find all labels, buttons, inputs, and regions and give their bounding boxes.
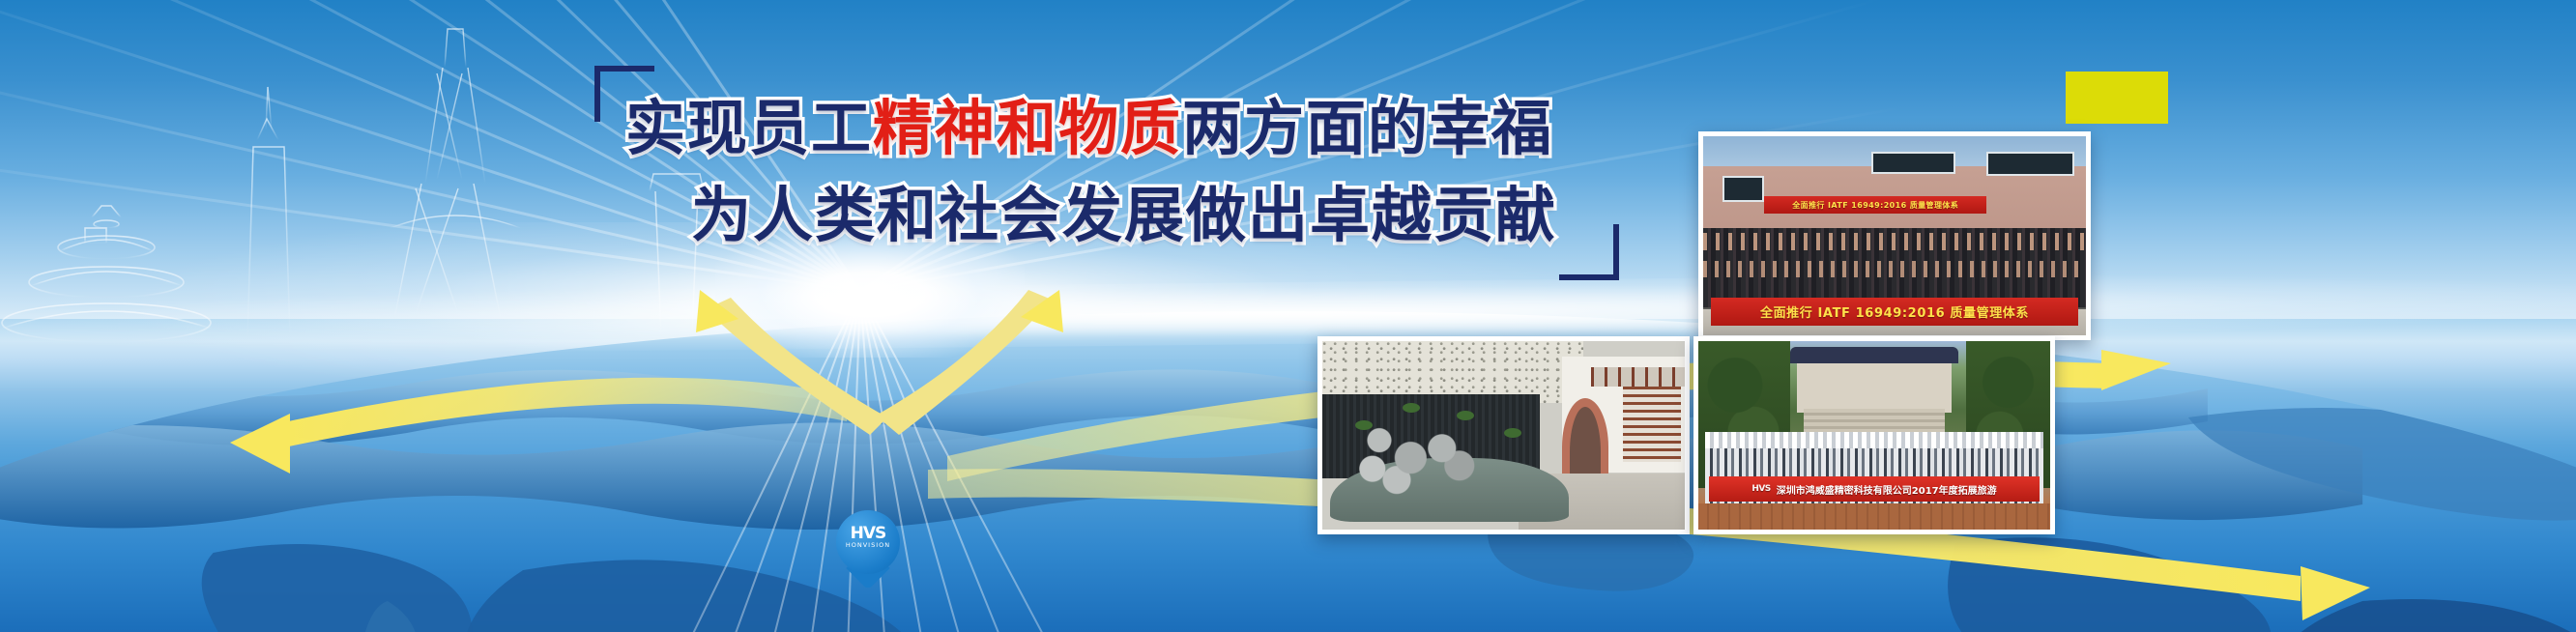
hero-banner: HVS HONVISION 实现员工精神和物质两方面的幸福 为人类和社会发展做出…: [0, 0, 2576, 632]
continents-layer: [0, 311, 2576, 632]
slogan-line-1: 实现员工精神和物质两方面的幸福: [625, 79, 1553, 166]
pergola-roof: [1591, 367, 1686, 387]
wall-banner-text: 全面推行 IATF 16949:2016 质量管理体系: [1764, 196, 1986, 215]
location-pin-logo: HVS HONVISION: [836, 510, 900, 593]
temple-gate-roof: [1790, 347, 1959, 364]
world-globe: [0, 311, 2576, 632]
employee-crowd: [1703, 228, 2086, 307]
photo-garden-courtyard[interactable]: [1317, 336, 1690, 534]
slogan-block: 实现员工精神和物质两方面的幸福 为人类和社会发展做出卓越贡献: [594, 58, 1619, 280]
outing-banner-text: 深圳市鸿威盛精密科技有限公司2017年度拓展旅游: [1777, 482, 1997, 497]
sun-rays-lower: [860, 290, 861, 291]
hvs-logo-subtitle: HONVISION: [836, 541, 900, 549]
yellow-accent-square: [2066, 72, 2168, 124]
crowd-caps: [1705, 432, 2042, 449]
factory-window: [1722, 176, 1765, 202]
slogan-line-2: 为人类和社会发展做出卓越贡献: [691, 166, 1557, 253]
ground-banner-text: 全面推行 IATF 16949:2016 质量管理体系: [1711, 298, 2078, 326]
slogan-line1-highlight: 精神和物质: [873, 79, 1182, 166]
hvs-logo-mark: HVS: [836, 524, 900, 543]
photo-team-outing[interactable]: HVS 深圳市鸿威盛精密科技有限公司2017年度拓展旅游: [1693, 336, 2055, 534]
photo-team-iatf[interactable]: 全面推行 IATF 16949:2016 质量管理体系 全面推行 IATF 16…: [1698, 131, 2091, 340]
outing-banner: HVS 深圳市鸿威盛精密科技有限公司2017年度拓展旅游: [1709, 476, 2040, 501]
wall-planter: [1504, 428, 1521, 438]
slogan-line1-part2: 两方面的幸福: [1182, 79, 1553, 166]
outing-banner-logo: HVS: [1751, 484, 1770, 494]
wood-slat-screen: [1623, 387, 1681, 462]
slogan-line2-text: 为人类和社会发展做出卓越贡献: [691, 166, 1557, 253]
factory-window: [1986, 152, 2074, 176]
brick-plaza: [1698, 503, 2050, 530]
wall-planter: [1355, 420, 1373, 430]
bracket-bottom-right-icon: [1559, 224, 1619, 280]
wall-planter: [1457, 411, 1474, 420]
slogan-line1-part1: 实现员工: [625, 79, 873, 166]
factory-window: [1871, 152, 1955, 174]
